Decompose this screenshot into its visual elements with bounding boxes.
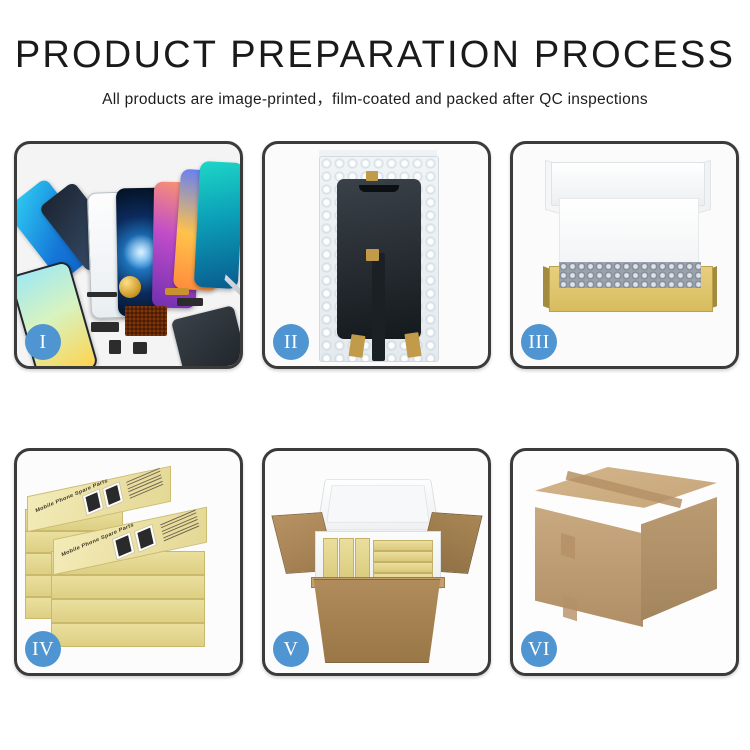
step-badge-2: II [273, 324, 309, 360]
step-panel-1: I [14, 141, 243, 369]
inner-box-6 [373, 562, 433, 573]
screen-flex-cable [372, 253, 385, 361]
page-header: PRODUCT PREPARATION PROCESS All products… [0, 0, 750, 109]
carton-tape-tab-upper [561, 533, 575, 560]
part-flex-strip [87, 292, 117, 297]
part-gold-connector [165, 288, 189, 295]
stack-box-r4 [51, 623, 205, 647]
box-feature-lines-front [160, 510, 199, 544]
white-foam-sheet [559, 198, 699, 270]
part-button-cap [109, 340, 121, 354]
step-panel-4: Mobile Phone Spare Parts Mobile Phone Sp… [14, 448, 243, 676]
phone-teal-gradient [194, 161, 243, 289]
page-title: PRODUCT PREPARATION PROCESS [0, 36, 750, 76]
bubble-wrap-fill [559, 262, 701, 288]
inner-box-5 [373, 551, 433, 562]
part-vibrator [133, 342, 147, 354]
step-badge-4: IV [25, 631, 61, 667]
box-thumb-back-2 [102, 481, 124, 509]
bubble-wrap-bag [319, 156, 439, 362]
inner-box-4 [373, 540, 433, 551]
step-panel-6: VI [510, 448, 739, 676]
part-back-housing [171, 305, 243, 369]
carton-body [305, 579, 449, 663]
process-step-grid: I II [14, 141, 737, 676]
stack-box-r3 [51, 599, 205, 623]
page-subtitle: All products are image-printed，film-coat… [0, 87, 750, 109]
carton-side-face [641, 497, 717, 621]
step-badge-3: III [521, 324, 557, 360]
part-speaker-coil [119, 276, 141, 298]
carton-front-face [535, 507, 643, 627]
part-camera-module [91, 322, 119, 332]
box-feature-lines-back [126, 468, 163, 501]
box-thumb-front-2 [134, 524, 157, 553]
step-badge-6: VI [521, 631, 557, 667]
step-badge-5: V [273, 631, 309, 667]
tape-top [366, 171, 378, 181]
part-ribbon-cable [177, 298, 203, 306]
step-badge-1: I [25, 324, 61, 360]
step-panel-5: V [262, 448, 491, 676]
step-panel-2: II [262, 141, 491, 369]
tape-middle [366, 249, 379, 261]
stack-box-r2 [51, 575, 205, 599]
part-logic-board [125, 306, 167, 336]
spare-parts-cluster [81, 274, 243, 369]
product-preparation-page: PRODUCT PREPARATION PROCESS All products… [0, 0, 750, 750]
foam-lid-open [317, 479, 440, 530]
carton-tape-tab-lower [563, 595, 577, 622]
step-panel-3: III [510, 141, 739, 369]
tape-bottom-left [349, 334, 366, 358]
